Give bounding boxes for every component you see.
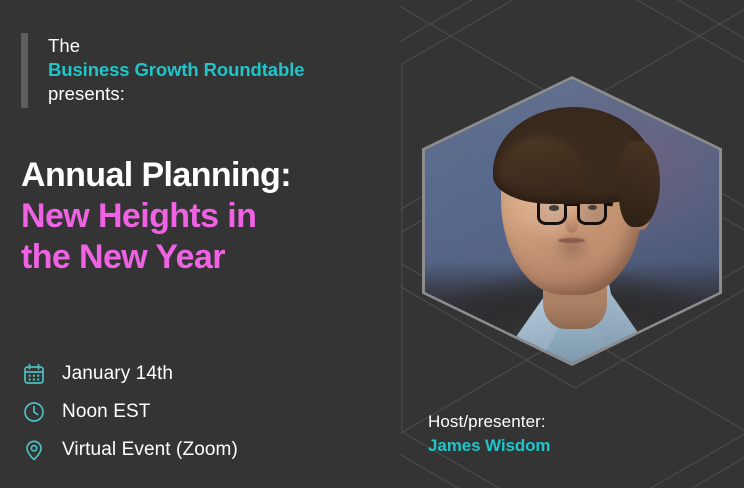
detail-label-time: Noon EST: [62, 401, 150, 423]
host-credit-block: Host/presenter: James Wisdom: [428, 410, 550, 458]
detail-label-date: January 14th: [62, 363, 173, 385]
eyebrow-lines: The Business Growth Roundtable presents:: [48, 33, 304, 108]
headline-line-1: Annual Planning:: [21, 155, 381, 196]
organization-name: Business Growth Roundtable: [48, 58, 304, 82]
event-details-list: January 14th Noon EST: [21, 355, 238, 469]
detail-row-location: Virtual Event (Zoom): [21, 431, 238, 469]
left-content-panel: The Business Growth Roundtable presents:…: [0, 0, 400, 488]
host-photo-hexagon: [422, 76, 722, 366]
accent-bar: [21, 33, 28, 108]
location-pin-icon: [21, 437, 47, 463]
host-name: James Wisdom: [428, 434, 550, 458]
right-visual-panel: Host/presenter: James Wisdom: [400, 0, 744, 488]
page-title: Annual Planning: New Heights in the New …: [21, 155, 381, 278]
calendar-icon: [21, 361, 47, 387]
headline-line-3: the New Year: [21, 237, 381, 278]
event-promo-banner: The Business Growth Roundtable presents:…: [0, 0, 744, 488]
hexagon-photo-border: [422, 76, 722, 366]
clock-icon: [21, 399, 47, 425]
headline-line-2: New Heights in: [21, 196, 381, 237]
portrait-photo: [425, 79, 719, 363]
eyebrow-line-presents: presents:: [48, 82, 304, 106]
detail-row-date: January 14th: [21, 355, 238, 393]
detail-row-time: Noon EST: [21, 393, 238, 431]
eyebrow-block: The Business Growth Roundtable presents:: [21, 33, 304, 108]
eyebrow-line-the: The: [48, 34, 304, 58]
detail-label-location: Virtual Event (Zoom): [62, 439, 238, 461]
host-label: Host/presenter:: [428, 410, 550, 434]
hexagon-photo-inner: [425, 79, 719, 363]
